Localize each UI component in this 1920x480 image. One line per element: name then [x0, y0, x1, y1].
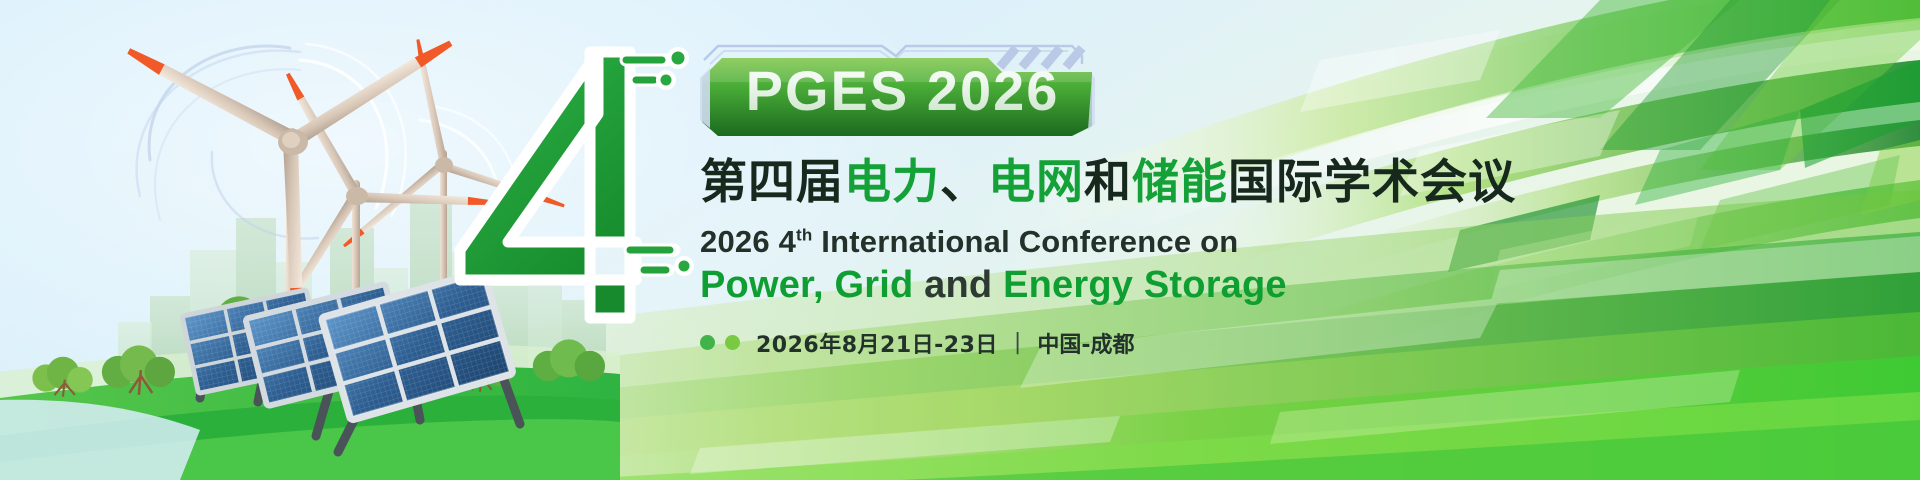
cn-part-6: 国际学术会议: [1228, 155, 1516, 210]
en2-part-0: Power,: [700, 264, 824, 306]
en2-part-1: Grid: [834, 264, 913, 306]
en1-suffix: International Conference on: [812, 224, 1238, 259]
en2-part-2: and: [924, 264, 992, 306]
event-location: 中国-成都: [1037, 327, 1134, 359]
en1-prefix: 2026 4: [700, 224, 796, 259]
cn-part-1: 电力: [844, 155, 940, 210]
event-meta-row: 2026年8月21日-23日 | 中国-成都: [700, 327, 1880, 359]
banner-text-block: PGES 2026 第四届电力、电网和储能国际学术会议 2026 4th Int…: [700, 34, 1880, 434]
edition-numeral-4: [430, 18, 730, 348]
conference-acronym-badge: PGES 2026: [700, 34, 1095, 136]
en2-part-3: Energy Storage: [1003, 264, 1287, 306]
cn-part-5: 储能: [1132, 155, 1228, 210]
cn-part-2: 、: [940, 155, 988, 210]
conference-title-cn: 第四届电力、电网和储能国际学术会议: [700, 158, 1880, 208]
conference-title-en-line1: 2026 4th International Conference on: [700, 224, 1880, 260]
en1-ordinal-suffix: th: [796, 225, 812, 244]
conference-title-en-line2: Power, Grid and Energy Storage: [700, 264, 1880, 307]
bullet-dot-2-icon: [725, 335, 740, 350]
meta-separator: |: [1014, 330, 1021, 355]
bullet-dot-1-icon: [700, 335, 715, 350]
conference-banner: PGES 2026 第四届电力、电网和储能国际学术会议 2026 4th Int…: [0, 0, 1920, 480]
event-date: 2026年8月21日-23日: [756, 327, 998, 359]
cn-part-4: 和: [1084, 155, 1132, 210]
cn-part-3: 电网: [988, 155, 1084, 210]
cn-part-0: 第四届: [700, 155, 844, 210]
badge-label: PGES 2026: [700, 34, 1095, 136]
